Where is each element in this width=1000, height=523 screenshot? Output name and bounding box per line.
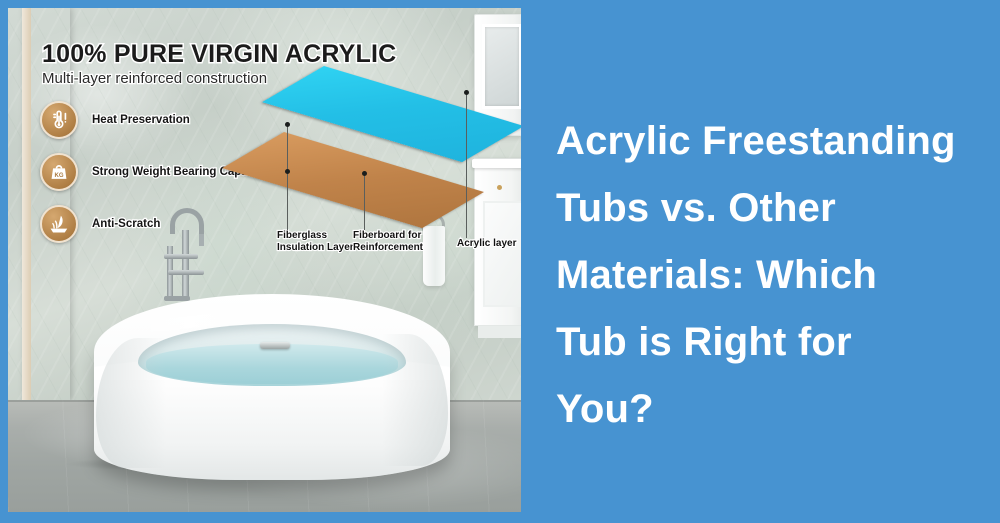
title-line: Tub is Right for (556, 309, 996, 376)
svg-text:KG: KG (54, 173, 63, 179)
title-line: Tubs vs. Other (556, 175, 996, 242)
feature-anti-scratch: Anti-Scratch (40, 205, 160, 243)
page-title: Acrylic Freestanding Tubs vs. Other Mate… (556, 108, 996, 443)
tub-filler-faucet (156, 208, 216, 300)
thermometer-icon (40, 101, 78, 139)
faucet-handle-lower (168, 270, 204, 275)
leader-dot-acrylic (464, 90, 469, 95)
title-line: Acrylic Freestanding (556, 108, 996, 175)
anti-scratch-icon (40, 205, 78, 243)
leader-dot-fiberglass-lower (285, 169, 290, 174)
feature-heat-preservation: Heat Preservation (40, 101, 190, 139)
tub-water (146, 344, 398, 384)
feature-label: Heat Preservation (92, 114, 190, 126)
feature-weight-capacity: KG Strong Weight Bearing Capacity (40, 153, 268, 191)
layer-acrylic (324, 66, 521, 152)
product-infographic-image: 100% PURE VIRGIN ACRYLIC Multi-layer rei… (8, 8, 521, 512)
freestanding-bathtub (94, 294, 450, 480)
faucet-handle-upper (164, 254, 198, 259)
figure-headline: 100% PURE VIRGIN ACRYLIC (42, 40, 396, 69)
title-line: Materials: Which (556, 242, 996, 309)
vanity-base (478, 326, 521, 338)
title-line: You? (556, 376, 996, 443)
figure-subhead: Multi-layer reinforced construction (42, 70, 267, 87)
leader-line-fiberglass (287, 125, 288, 230)
leader-line-acrylic (466, 93, 467, 238)
leader-dot-fiberglass-upper (285, 122, 290, 127)
feature-label: Anti-Scratch (92, 218, 160, 230)
faucet-column (182, 230, 189, 300)
leader-line-fiberboard (364, 174, 365, 230)
exploded-layer-diagram (270, 66, 510, 236)
overflow-drain-icon (260, 342, 290, 349)
weight-kg-icon: KG (40, 153, 78, 191)
leader-dot-fiberboard (362, 171, 367, 176)
